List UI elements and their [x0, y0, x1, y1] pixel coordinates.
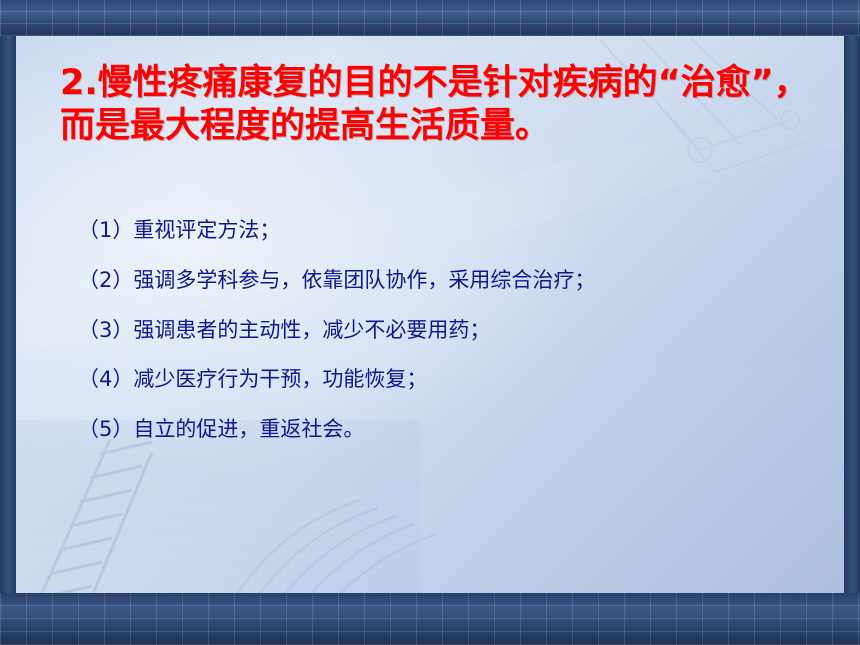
- slide-border-top: [0, 0, 860, 36]
- list-item: （3）强调患者的主动性，减少不必要用药；: [78, 318, 814, 343]
- slide-content: 2.慢性疼痛康复的目的不是针对疾病的“治愈”，而是最大程度的提高生活质量。 （1…: [16, 36, 844, 593]
- list-item: （1）重视评定方法；: [78, 218, 814, 243]
- list-item: （2）强调多学科参与，依靠团队协作，采用综合治疗；: [78, 268, 814, 293]
- list-item: （5）自立的促进，重返社会。: [78, 417, 814, 442]
- bullet-list: （1）重视评定方法； （2）强调多学科参与，依靠团队协作，采用综合治疗； （3）…: [78, 218, 814, 442]
- list-item: （4）减少医疗行为干预，功能恢复；: [78, 367, 814, 392]
- bottom-band-texture: [0, 593, 860, 645]
- slide-border-bottom: [0, 593, 860, 645]
- slide-title: 2.慢性疼痛康复的目的不是针对疾病的“治愈”，而是最大程度的提高生活质量。: [60, 62, 814, 147]
- top-band-texture: [0, 0, 860, 36]
- slide-border-right: [844, 0, 860, 645]
- presentation-slide: 2.慢性疼痛康复的目的不是针对疾病的“治愈”，而是最大程度的提高生活质量。 （1…: [0, 0, 860, 645]
- slide-border-left: [0, 0, 16, 645]
